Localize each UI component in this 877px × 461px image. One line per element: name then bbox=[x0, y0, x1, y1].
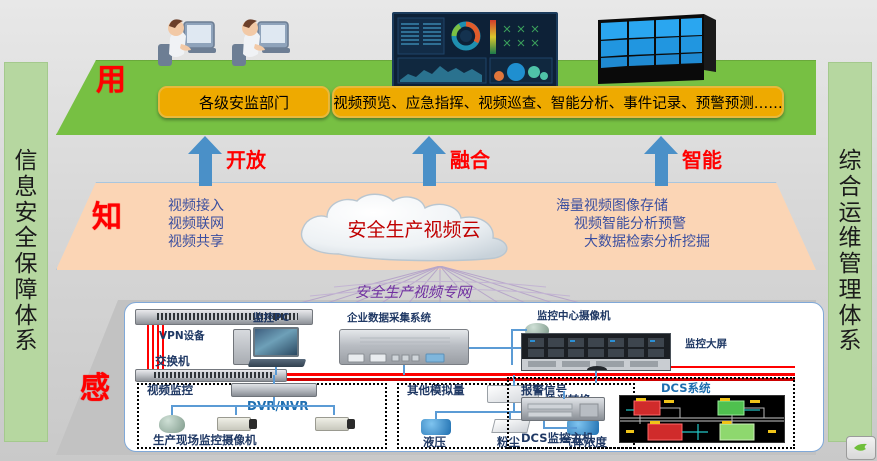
arrow-intelligent bbox=[644, 136, 678, 186]
camera-drop-1 bbox=[171, 405, 173, 415]
know-right-item-2: 大数据检索分析挖掘 bbox=[584, 234, 710, 252]
private-network-label: 安全生产视频专网 bbox=[355, 281, 471, 302]
analog-title: 其他模拟量 bbox=[407, 385, 465, 397]
platform-functions-box[interactable]: 视频预览、应急指挥、视频巡查、智能分析、事件记录、预警预测…… bbox=[332, 86, 784, 118]
switch-image bbox=[135, 369, 287, 382]
site-cameras-label: 生产现场监控摄像机 bbox=[153, 435, 257, 447]
layer-kanji-sense: 感 bbox=[80, 374, 110, 404]
left-panel-char-6: 体 bbox=[15, 304, 38, 330]
switch-label: 交换机 bbox=[155, 356, 190, 368]
pc-monitor-image bbox=[253, 327, 299, 357]
know-right-capabilities: 海量视频图像存储 视频智能分析预警 大数据检索分析挖掘 bbox=[556, 198, 710, 252]
right-panel-char-1: 合 bbox=[839, 175, 862, 201]
bullet-camera-2-image bbox=[315, 417, 349, 431]
data-collect-to-center bbox=[469, 347, 529, 349]
left-panel-char-3: 全 bbox=[15, 226, 38, 252]
big-screen-label: 监控大屏 bbox=[685, 339, 727, 350]
sidebar-ops-management: 综 合 运 维 管 理 体 系 bbox=[828, 62, 872, 442]
camera-drop-2 bbox=[235, 405, 237, 415]
know-right-item-1: 视频智能分析预警 bbox=[574, 216, 710, 234]
camera-link-v bbox=[511, 329, 513, 365]
corner-badge-icon bbox=[846, 436, 876, 460]
dcs-hmi-image bbox=[619, 395, 785, 443]
dcs-host-uplink bbox=[563, 391, 565, 399]
arrow-fusion bbox=[412, 136, 446, 186]
video-monitoring-title: 视频监控 bbox=[147, 385, 193, 397]
bullet-camera-1-lens bbox=[249, 419, 257, 429]
right-panel-char-4: 管 bbox=[839, 252, 862, 278]
layer-kanji-use: 用 bbox=[96, 66, 126, 96]
dcs-host-downlink-h bbox=[543, 427, 577, 429]
right-panel-char-3: 维 bbox=[839, 226, 862, 252]
layer-kanji-know: 知 bbox=[92, 203, 122, 233]
camera-drop-3 bbox=[333, 405, 335, 415]
pc-uplink bbox=[275, 367, 277, 375]
know-left-capabilities: 视频接入 视频联网 视频共享 bbox=[140, 198, 224, 252]
right-panel-char-0: 综 bbox=[839, 149, 862, 175]
dcs-host-label: DCS监控主机 bbox=[521, 433, 593, 445]
right-panel-char-6: 体 bbox=[839, 304, 862, 330]
dcs-system-label: DCS系统 bbox=[661, 383, 710, 395]
right-panel-char-5: 理 bbox=[839, 278, 862, 304]
left-panel-char-7: 系 bbox=[15, 329, 38, 355]
data-collect-uplink bbox=[403, 365, 405, 375]
left-panel-char-0: 信 bbox=[15, 149, 38, 175]
pc-keyboard-image bbox=[248, 359, 307, 367]
leaf-icon bbox=[853, 442, 869, 454]
industrial-pc-image bbox=[339, 329, 469, 365]
camera-link-h bbox=[511, 329, 527, 331]
know-right-item-0: 海量视频图像存储 bbox=[556, 198, 710, 216]
left-panel-char-2: 安 bbox=[15, 201, 38, 227]
camera-tree-bar bbox=[171, 405, 335, 407]
bullet-camera-1-image bbox=[217, 417, 251, 431]
pc-tower-image bbox=[233, 329, 251, 365]
alarm-signal-label: 报警信号 bbox=[521, 385, 567, 397]
hydraulic-sensor-image bbox=[421, 419, 451, 435]
know-left-item-1: 视频联网 bbox=[154, 216, 224, 234]
arrow-label-intelligent: 智能 bbox=[682, 150, 722, 170]
diagram-canvas: 用 知 感 各级安监部门 视频预览、应急指挥、视频巡查、智能分析、事件记录、预警… bbox=[0, 0, 877, 461]
know-left-item-2: 视频共享 bbox=[140, 234, 224, 252]
camera-tree-stem bbox=[273, 397, 275, 405]
sensor-label-hydraulic: 液压 bbox=[423, 437, 446, 449]
vpn-device-label: VPN设备 bbox=[159, 331, 205, 342]
right-panel-char-7: 系 bbox=[839, 329, 862, 355]
arrow-open bbox=[188, 136, 222, 186]
arrow-label-open: 开放 bbox=[226, 150, 266, 170]
video-wall-image bbox=[592, 10, 722, 84]
ptz-camera-image bbox=[159, 415, 185, 433]
left-panel-char-5: 障 bbox=[15, 278, 38, 304]
dvr-uplink bbox=[273, 375, 275, 384]
data-collect-label: 企业数据采集系统 bbox=[347, 313, 431, 324]
cloud-title: 安全生产视频云 bbox=[283, 215, 545, 242]
right-panel-char-2: 运 bbox=[839, 201, 862, 227]
safety-departments-box[interactable]: 各级安监部门 bbox=[158, 86, 330, 118]
bullet-camera-2-lens bbox=[347, 419, 355, 429]
dcs-host-image bbox=[521, 397, 605, 421]
sidebar-information-security: 信 息 安 全 保 障 体 系 bbox=[4, 62, 48, 442]
dvr-image bbox=[231, 383, 317, 397]
arrow-label-fusion: 融合 bbox=[450, 150, 490, 170]
sense-layer-panel: VPN设备 交换机 监控PC 企业数据采集系统 bbox=[124, 302, 824, 452]
analytics-dashboard-image bbox=[392, 12, 558, 88]
operators-at-computers-icon bbox=[148, 8, 308, 68]
monitor-pc-label: 监控PC bbox=[253, 313, 289, 324]
left-panel-char-4: 保 bbox=[15, 252, 38, 278]
center-camera-label: 监控中心摄像机 bbox=[537, 311, 611, 322]
control-room-image bbox=[521, 333, 671, 371]
know-left-item-0: 视频接入 bbox=[168, 198, 224, 216]
left-panel-char-1: 息 bbox=[15, 175, 38, 201]
